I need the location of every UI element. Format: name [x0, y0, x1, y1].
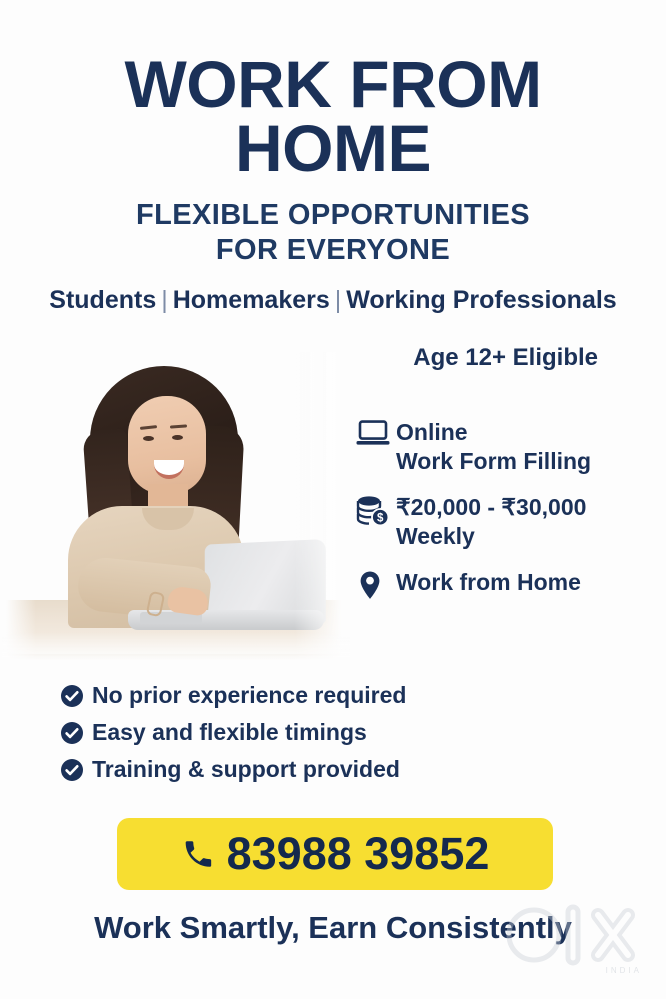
benefits-checklist: No prior experience required Easy and fl…	[60, 682, 580, 793]
checklist-item: No prior experience required	[60, 682, 580, 709]
feature-text-online: Online Work Form Filling	[396, 418, 591, 477]
headline-line-1: WORK FROM	[0, 52, 666, 116]
checklist-item: Training & support provided	[60, 756, 580, 783]
audience-separator-2: |	[330, 286, 347, 314]
face	[128, 396, 206, 494]
audience-line: Students|Homemakers|Working Professional…	[0, 286, 666, 315]
feature-item-salary: $ ₹20,000 - ₹30,000 Weekly	[356, 493, 656, 552]
age-eligibility-note: Age 12+ Eligible	[413, 344, 598, 372]
headline-line-2: HOME	[0, 116, 666, 180]
photo-fade-right	[294, 352, 352, 664]
check-circle-icon	[60, 721, 92, 745]
feature-text-salary: ₹20,000 - ₹30,000 Weekly	[396, 493, 586, 552]
feature-list: Online Work Form Filling $ ₹20,000 - ₹30…	[356, 418, 656, 623]
check-circle-icon	[60, 684, 92, 708]
audience-students: Students	[49, 286, 156, 314]
subheadline-line-1: FLEXIBLE OPPORTUNITIES	[0, 198, 666, 233]
checklist-text: No prior experience required	[92, 682, 406, 709]
audience-separator-1: |	[156, 286, 173, 314]
feature-item-location: Work from Home	[356, 568, 656, 607]
checklist-text: Training & support provided	[92, 756, 400, 783]
phone-cta-banner[interactable]: 83988 39852	[117, 818, 553, 890]
subheadline-line-2: FOR EVERYONE	[0, 233, 666, 268]
feature-item-online: Online Work Form Filling	[356, 418, 656, 477]
eye-left	[143, 436, 154, 441]
check-circle-icon	[60, 758, 92, 782]
photo-fade-left	[2, 352, 36, 664]
location-pin-icon	[356, 568, 396, 607]
subheadline: FLEXIBLE OPPORTUNITIES FOR EVERYONE	[0, 198, 666, 269]
money-coins-icon: $	[356, 493, 396, 532]
page-title: WORK FROM HOME	[0, 52, 666, 180]
feature-text-location: Work from Home	[396, 568, 581, 597]
photo-fade-bottom	[2, 632, 350, 666]
tagline: Work Smartly, Earn Consistently	[0, 910, 666, 946]
audience-homemakers: Homemakers	[173, 286, 330, 314]
poster: WORK FROM HOME FLEXIBLE OPPORTUNITIES FO…	[0, 0, 666, 999]
eye-right	[172, 435, 183, 440]
laptop-icon	[356, 418, 396, 451]
audience-professionals: Working Professionals	[346, 286, 616, 314]
phone-number: 83988 39852	[227, 828, 490, 880]
checklist-item: Easy and flexible timings	[60, 719, 580, 746]
phone-icon	[181, 837, 215, 871]
watermark-region-label: INDIA	[606, 966, 642, 975]
woman-with-laptop-photo	[2, 352, 350, 664]
checklist-text: Easy and flexible timings	[92, 719, 367, 746]
svg-text:$: $	[377, 512, 384, 524]
